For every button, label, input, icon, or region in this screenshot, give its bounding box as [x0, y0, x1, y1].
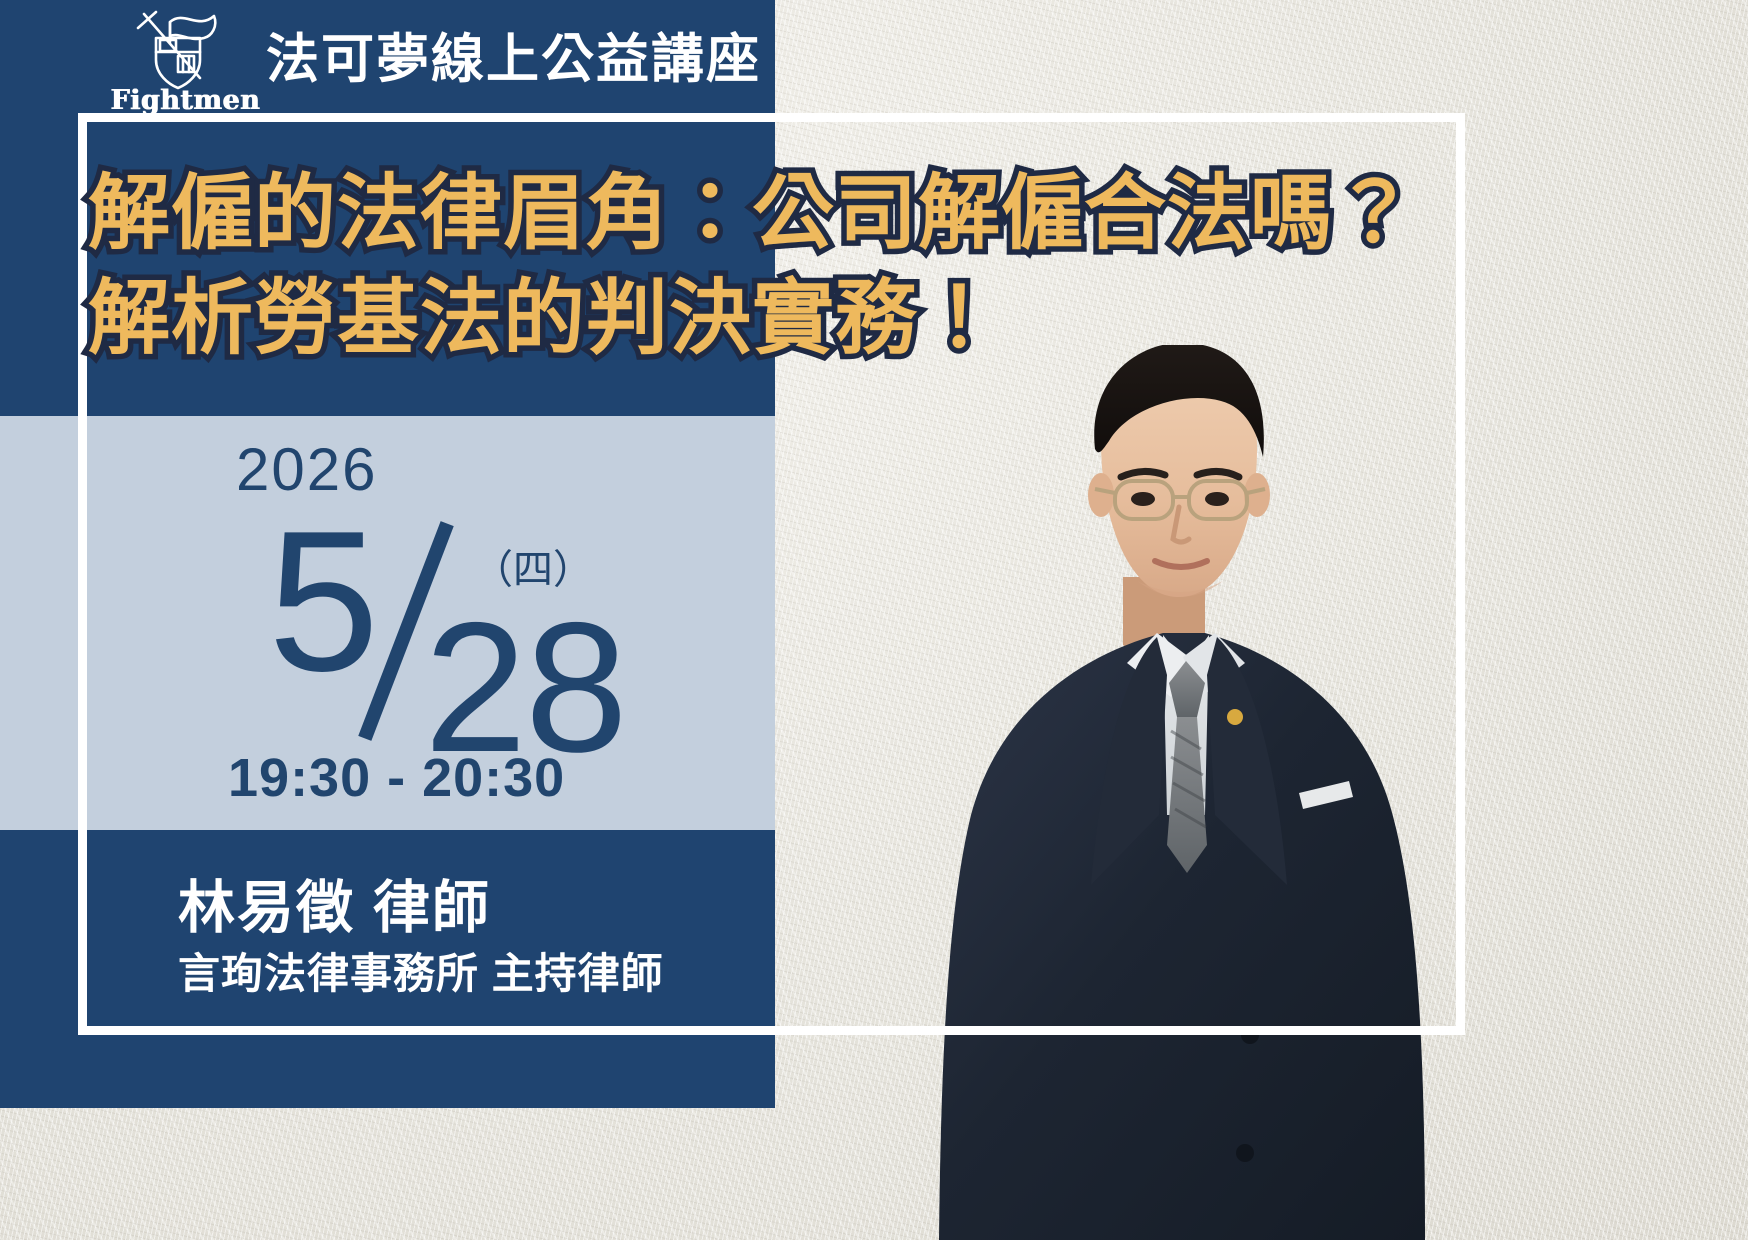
brand-wordmark: Fightmen: [110, 87, 260, 114]
title-line-2: 解析勞基法的判決實務！: [88, 267, 1508, 372]
event-kicker: 法可夢線上公益講座: [266, 33, 761, 86]
event-weekday: （四）: [473, 550, 593, 590]
shield-sword-flag-icon: [126, 8, 244, 90]
poster-canvas: Fightmen 法可夢線上公益講座 解僱的法律眉角：公司解僱合法嗎？ 解析勞基…: [0, 0, 1748, 1240]
event-time: 19:30 - 20:30: [228, 751, 565, 805]
event-date-block: 2026 5 （四） 28 19:30 - 20:30: [0, 416, 775, 830]
brand-logo: Fightmen: [120, 8, 250, 116]
title-line-1: 解僱的法律眉角：公司解僱合法嗎？: [88, 162, 1508, 267]
speaker-name: 林易徵 律師: [178, 880, 491, 937]
page-title: 解僱的法律眉角：公司解僱合法嗎？ 解析勞基法的判決實務！: [88, 162, 1508, 372]
speaker-portrait: [905, 345, 1465, 1240]
speaker-role: 言珣法律事務所 主持律師: [178, 953, 664, 995]
event-month: 5: [268, 502, 379, 702]
